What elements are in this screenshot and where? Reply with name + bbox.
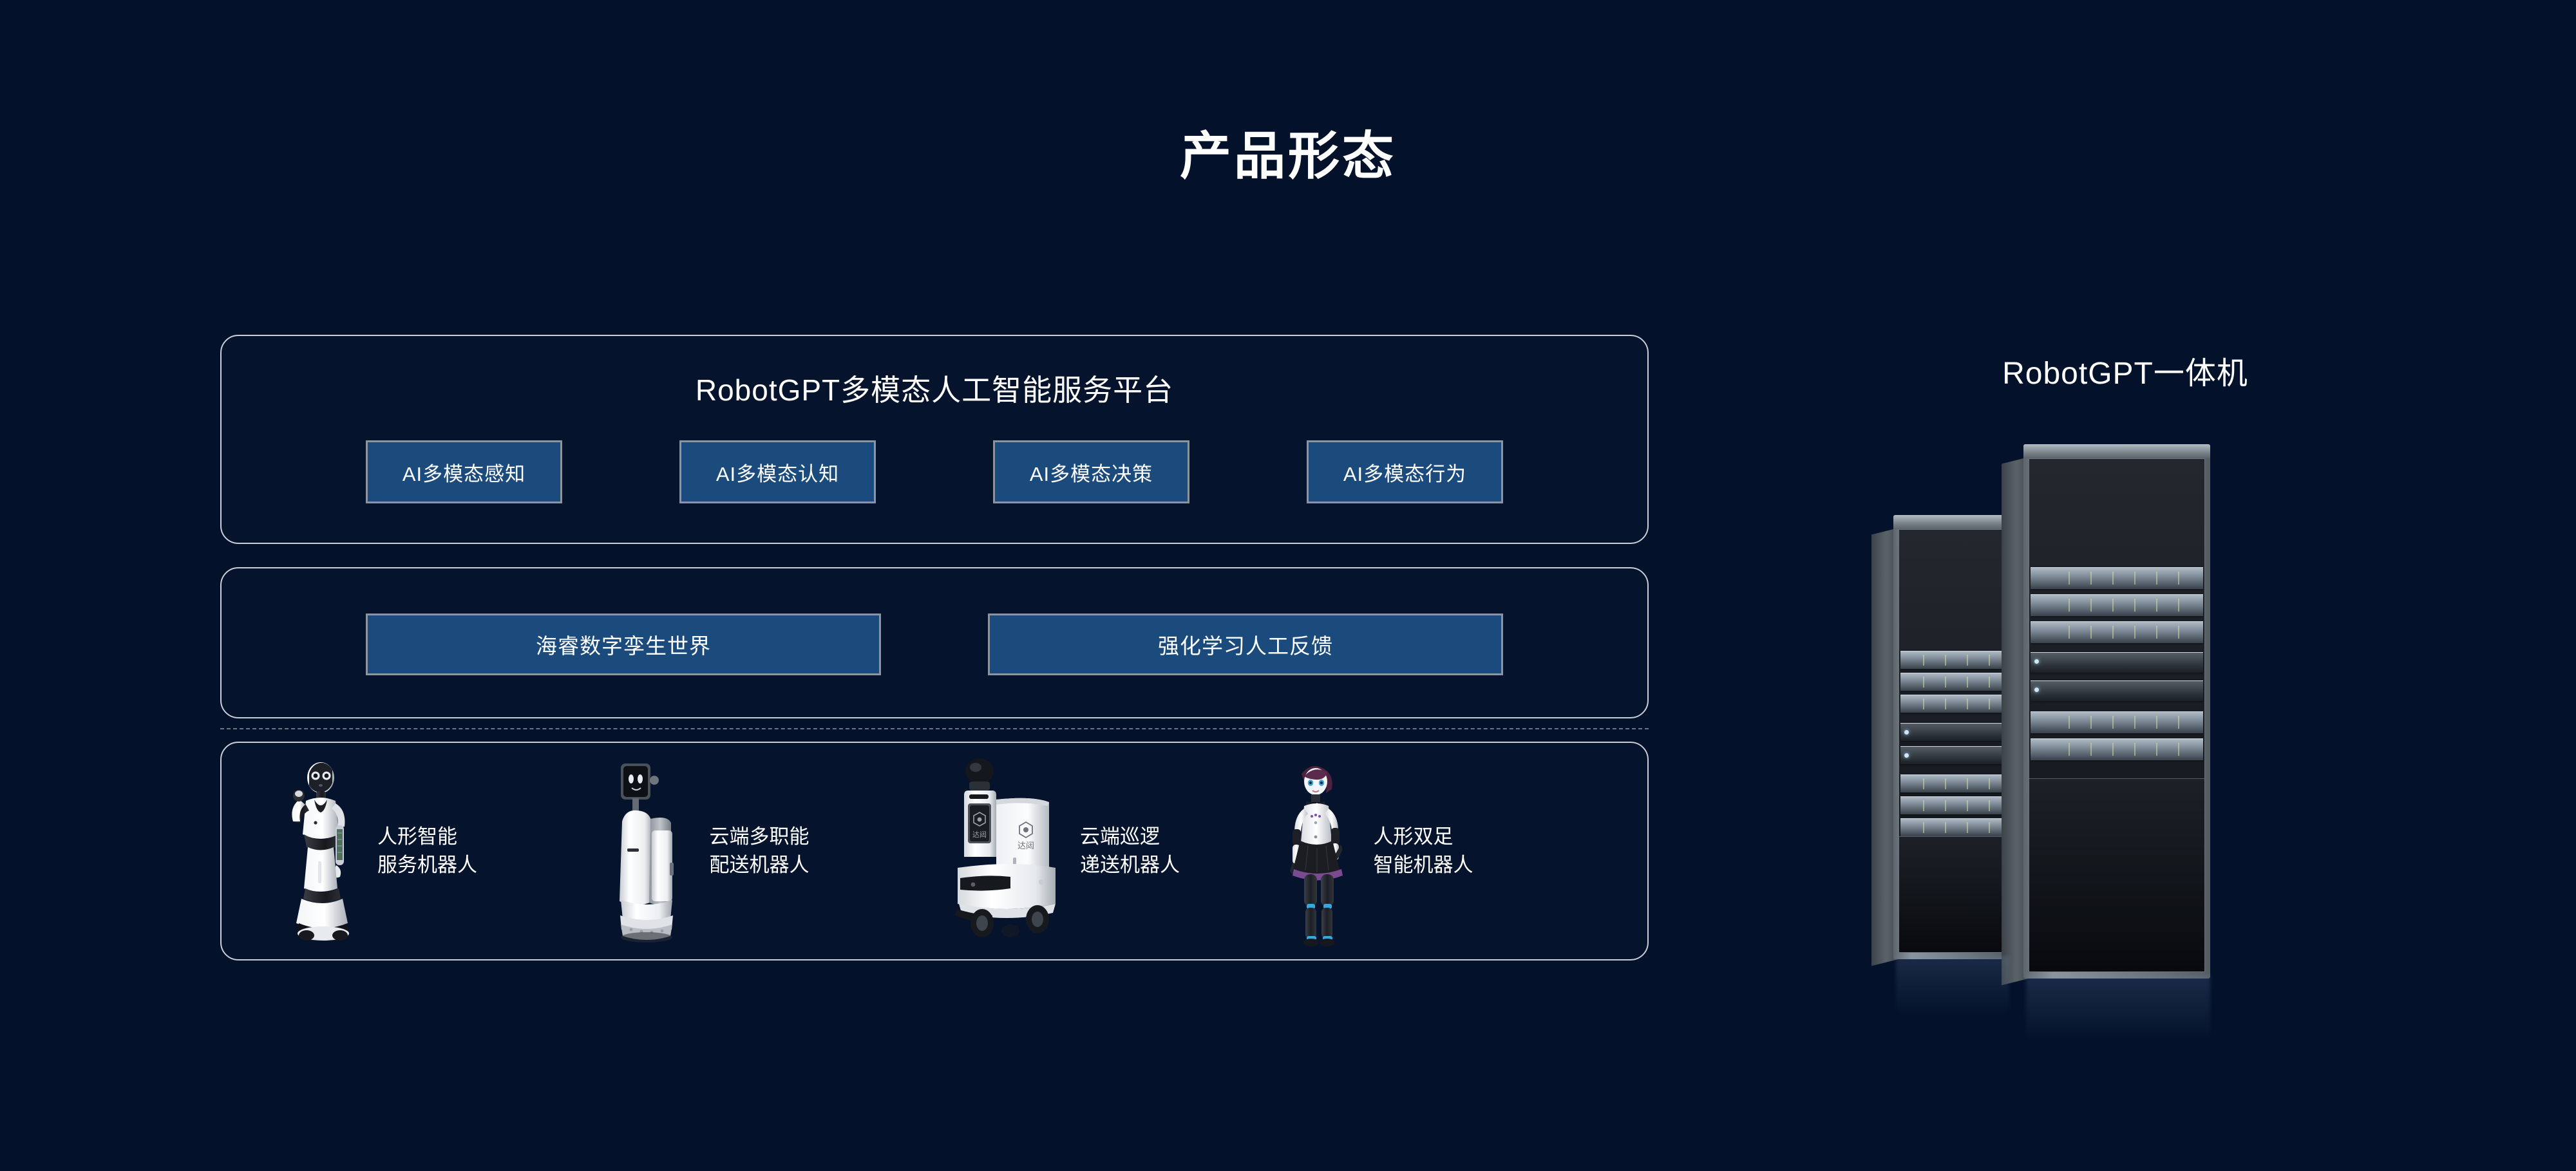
capability-chip-perception[interactable]: AI多模态感知 [366,440,562,503]
server-blade [2031,621,2203,643]
patrol-delivery-vehicle-icon: 达闼 达闼 [934,754,1070,948]
capability-chip-behavior[interactable]: AI多模态行为 [1307,440,1503,503]
capability-chip-row: AI多模态感知 AI多模态认知 AI多模态决策 AI多模态行为 [222,440,1647,503]
robot-label: 云端巡逻 递送机器人 [1080,823,1180,879]
humanoid-service-robot-icon [270,754,367,948]
appliance-title: RobotGPT一体机 [1868,348,2383,393]
rack-lower-bay [2029,778,2204,971]
section-divider [220,728,1649,729]
status-led [2034,659,2039,664]
server-blade [1900,651,2002,669]
server-rack-primary [2023,444,2210,979]
engine-panel: 海睿数字孪生世界 强化学习人工反馈 [220,567,1649,718]
platform-title: RobotGPT多模态人工智能服务平台 [222,367,1647,409]
svg-text:达闼: 达闼 [972,830,987,839]
platform-architecture-group: RobotGPT多模态人工智能服务平台 AI多模态感知 AI多模态认知 AI多模… [220,335,1649,960]
server-blade [1900,818,2002,836]
svg-text:达闼: 达闼 [1018,841,1034,851]
rack-lower-bay [1899,836,2003,952]
rack-frame [1893,515,2009,959]
server-blade-blank [1900,723,2002,741]
robot-label-line1: 人形智能 [377,823,477,851]
server-rack-icon [1887,412,2248,1043]
robot-label-line2: 服务机器人 [377,851,477,879]
engine-bar-label: 强化学习人工反馈 [1158,629,1333,660]
server-blade-blank [2031,652,2203,673]
engine-bar-row: 海睿数字孪生世界 强化学习人工反馈 [222,614,1647,675]
capability-chip-label: AI多模态感知 [402,458,526,487]
rack-top-cap [1893,515,2009,529]
server-blade [1900,673,2002,691]
robot-item-patrol-delivery[interactable]: 达闼 达闼 [934,743,1267,959]
server-blade-blank [2031,680,2203,701]
cloud-delivery-robot-icon [603,754,699,948]
rack-interior [2029,458,2205,972]
robot-label-line1: 人形双足 [1374,823,1473,851]
rack-frame [2023,444,2210,979]
rack-floor-reflection [1896,956,2009,1017]
robot-label-line1: 云端多职能 [710,823,810,851]
robot-item-bipedal-humanoid[interactable]: 人形双足 智能机器人 [1267,743,1599,959]
robot-label: 云端多职能 配送机器人 [710,823,810,879]
engine-bar-label: 海睿数字孪生世界 [536,629,711,660]
server-rack-secondary [1893,515,2009,959]
appliance-block: RobotGPT一体机 [1868,348,2383,393]
capability-chip-cognition[interactable]: AI多模态认知 [679,440,876,503]
robot-item-humanoid-service[interactable]: 人形智能 服务机器人 [270,743,603,959]
robot-row: 人形智能 服务机器人 [222,743,1647,959]
server-blade [1900,796,2002,814]
server-blade [2031,738,2203,760]
robot-label-line1: 云端巡逻 [1080,823,1180,851]
rack-interior [1899,529,2004,953]
capability-chip-decision[interactable]: AI多模态决策 [993,440,1189,503]
robot-label-line2: 智能机器人 [1374,851,1473,879]
status-led [2034,688,2039,692]
rack-floor-reflection [2026,975,2210,1043]
robot-panel: 人形智能 服务机器人 [220,742,1649,960]
platform-panel: RobotGPT多模态人工智能服务平台 AI多模态感知 AI多模态认知 AI多模… [220,335,1649,544]
robot-label: 人形智能 服务机器人 [377,823,477,879]
page-title: 产品形态 [0,115,2576,189]
capability-chip-label: AI多模态决策 [1030,458,1153,487]
status-led [1904,753,1909,758]
engine-bar-rlhf[interactable]: 强化学习人工反馈 [988,614,1503,675]
server-blade [2031,594,2203,616]
robot-label: 人形双足 智能机器人 [1374,823,1473,879]
server-blade [1900,774,2002,792]
capability-chip-label: AI多模态认知 [716,458,839,487]
capability-chip-label: AI多模态行为 [1343,458,1466,487]
bipedal-humanoid-robot-icon [1267,754,1363,948]
server-blade [1900,695,2002,713]
status-led [1904,730,1909,735]
server-blade-blank [1900,746,2002,764]
server-blade [2031,567,2203,589]
rack-top-cap [2023,444,2210,458]
robot-label-line2: 配送机器人 [710,851,810,879]
engine-bar-digital-twin[interactable]: 海睿数字孪生世界 [366,614,881,675]
robot-item-cloud-delivery[interactable]: 云端多职能 配送机器人 [603,743,935,959]
server-blade [2031,711,2203,733]
robot-label-line2: 递送机器人 [1080,851,1180,879]
